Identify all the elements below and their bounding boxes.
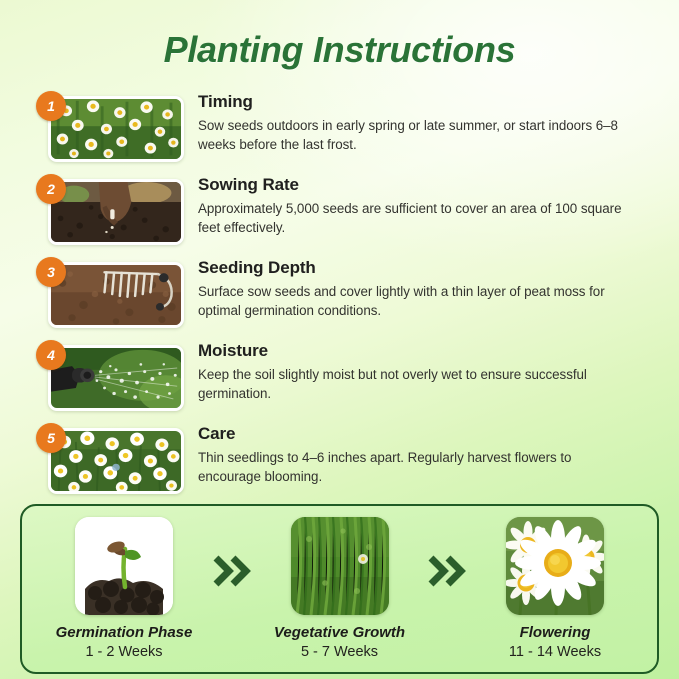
step-item: 5 Care Thin seedlings to 4–6 inches apar… — [36, 420, 645, 496]
step-description: Keep the soil slightly moist but not ove… — [198, 365, 628, 403]
step-item: 4 Moisture Keep the soil slightly moist … — [36, 337, 645, 413]
phase-label: Vegetative Growth — [274, 624, 405, 641]
step-text: Timing Sow seeds outdoors in early sprin… — [184, 88, 645, 154]
phase-duration: 1 - 2 Weeks — [85, 644, 162, 660]
step-text: Seeding Depth Surface sow seeds and cove… — [184, 254, 645, 320]
step-description: Surface sow seeds and cover lightly with… — [198, 282, 628, 320]
step-number-badge: 5 — [36, 423, 66, 453]
planting-instructions-infographic: Planting Instructions — [0, 0, 679, 679]
step-item: 2 Sowing Rate Approximately 5,000 seeds … — [36, 171, 645, 247]
step-title: Care — [198, 424, 645, 444]
timeline-phase: Vegetative Growth 5 - 7 Weeks — [256, 517, 424, 660]
timeline-phase: Flowering 11 - 14 Weeks — [471, 517, 639, 660]
step-text: Sowing Rate Approximately 5,000 seeds ar… — [184, 171, 645, 237]
double-chevron-right-icon — [210, 554, 254, 588]
step-item: 3 Seeding Depth Surface sow seeds and co… — [36, 254, 645, 330]
step-description: Thin seedlings to 4–6 inches apart. Regu… — [198, 448, 628, 486]
steps-list: 1 Timing Sow seeds outdoors in early spr… — [0, 88, 679, 496]
step-item: 1 Timing Sow seeds outdoors in early spr… — [36, 88, 645, 164]
step-text: Moisture Keep the soil slightly moist bu… — [184, 337, 645, 403]
step-thumbnail-wrap: 2 — [36, 179, 184, 247]
timeline-phase: Germination Phase 1 - 2 Weeks — [40, 517, 208, 660]
step-thumbnail-wrap: 1 — [36, 96, 184, 164]
step-text: Care Thin seedlings to 4–6 inches apart.… — [184, 420, 645, 486]
daisy-meadow-photo — [48, 428, 184, 494]
double-chevron-right-icon — [425, 554, 469, 588]
step-number-badge: 3 — [36, 257, 66, 287]
step-number-badge: 4 — [36, 340, 66, 370]
step-thumbnail-wrap: 4 — [36, 345, 184, 413]
step-thumbnail-wrap: 5 — [36, 428, 184, 496]
page-title: Planting Instructions — [0, 0, 679, 70]
phase-label: Flowering — [520, 624, 591, 641]
growth-timeline-panel: Germination Phase 1 - 2 Weeks — [20, 504, 659, 674]
step-number-badge: 1 — [36, 91, 66, 121]
chamomile-blooms-photo — [506, 517, 604, 615]
step-title: Seeding Depth — [198, 258, 645, 278]
sprouting-seedling-photo — [75, 517, 173, 615]
rake-in-soil-photo — [48, 262, 184, 328]
step-number-badge: 2 — [36, 174, 66, 204]
phase-duration: 11 - 14 Weeks — [509, 644, 601, 660]
step-thumbnail-wrap: 3 — [36, 262, 184, 330]
green-foliage-photo — [291, 517, 389, 615]
chamomile-field-photo — [48, 96, 184, 162]
step-description: Approximately 5,000 seeds are sufficient… — [198, 199, 628, 237]
watering-hose-spray-photo — [48, 345, 184, 411]
phase-duration: 5 - 7 Weeks — [301, 644, 378, 660]
step-title: Timing — [198, 92, 645, 112]
step-title: Moisture — [198, 341, 645, 361]
step-description: Sow seeds outdoors in early spring or la… — [198, 116, 628, 154]
step-title: Sowing Rate — [198, 175, 645, 195]
phase-label: Germination Phase — [56, 624, 193, 641]
hand-sowing-seeds-photo — [48, 179, 184, 245]
